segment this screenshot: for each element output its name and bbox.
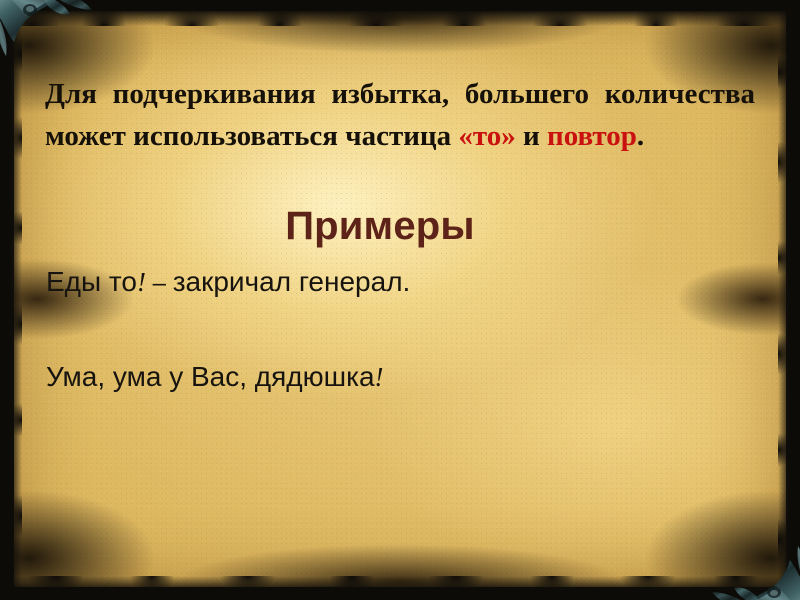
example-1-after: закричал генерал. xyxy=(173,266,411,297)
example-1-exclamation: ! xyxy=(137,267,146,297)
intro-emphasis-povtor: повтор xyxy=(547,120,637,152)
intro-particle-to: «то» xyxy=(458,120,515,152)
example-1-dash: – xyxy=(146,270,173,297)
section-heading-examples: Примеры xyxy=(0,204,760,249)
intro-paragraph: Для подчеркивания избытка, большего коли… xyxy=(45,73,755,157)
slide-content: Для подчеркивания избытка, большего коли… xyxy=(0,0,800,600)
example-sentence-2: Ума, ума у Вас, дядюшка! xyxy=(46,361,384,393)
example-2-before: Ума, ума у Вас, дядюшка xyxy=(46,361,375,392)
intro-conjunction: и xyxy=(516,120,547,152)
example-sentence-1: Еды то! – закричал генерал. xyxy=(46,266,410,298)
slide-canvas: Для подчеркивания избытка, большего коли… xyxy=(0,0,800,600)
example-1-before: Еды то xyxy=(46,266,137,297)
intro-text-part1: Для подчеркивания избытка, большего коли… xyxy=(45,78,755,152)
intro-final-period: . xyxy=(637,120,644,152)
example-2-exclamation: ! xyxy=(375,362,384,392)
